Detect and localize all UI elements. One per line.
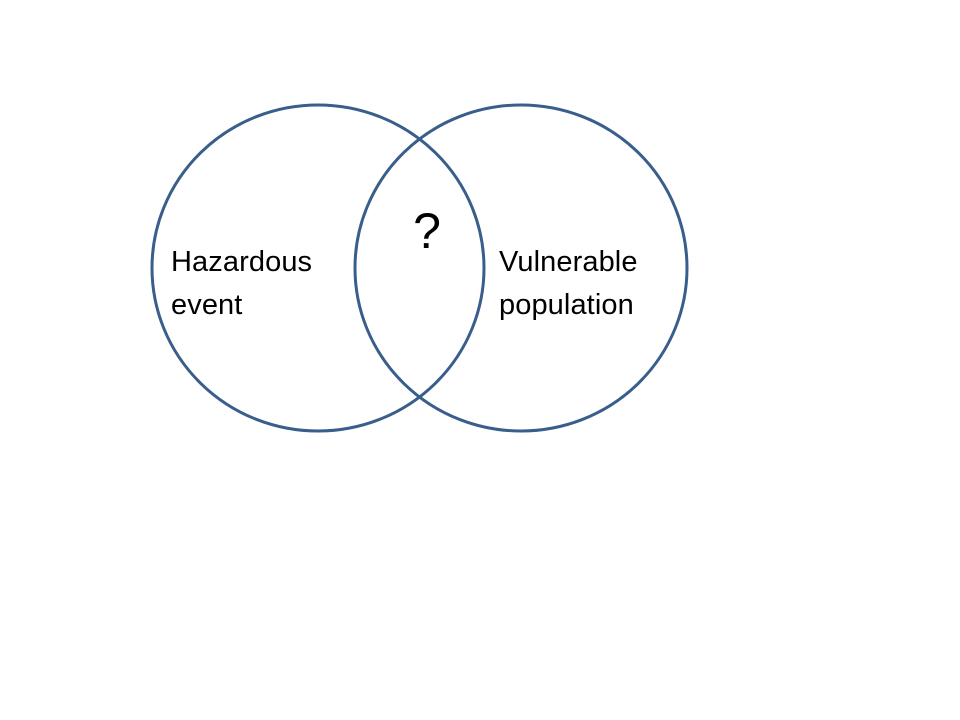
diagram-canvas: Hazardous event ? Vulnerable population — [0, 0, 960, 720]
venn-label-hazardous-event: Hazardous event — [171, 241, 351, 327]
venn-intersection-question-mark: ? — [395, 203, 459, 259]
venn-diagram: Hazardous event ? Vulnerable population — [0, 0, 960, 720]
venn-diagram-graphic — [0, 0, 960, 720]
venn-label-vulnerable-population: Vulnerable population — [499, 241, 699, 327]
